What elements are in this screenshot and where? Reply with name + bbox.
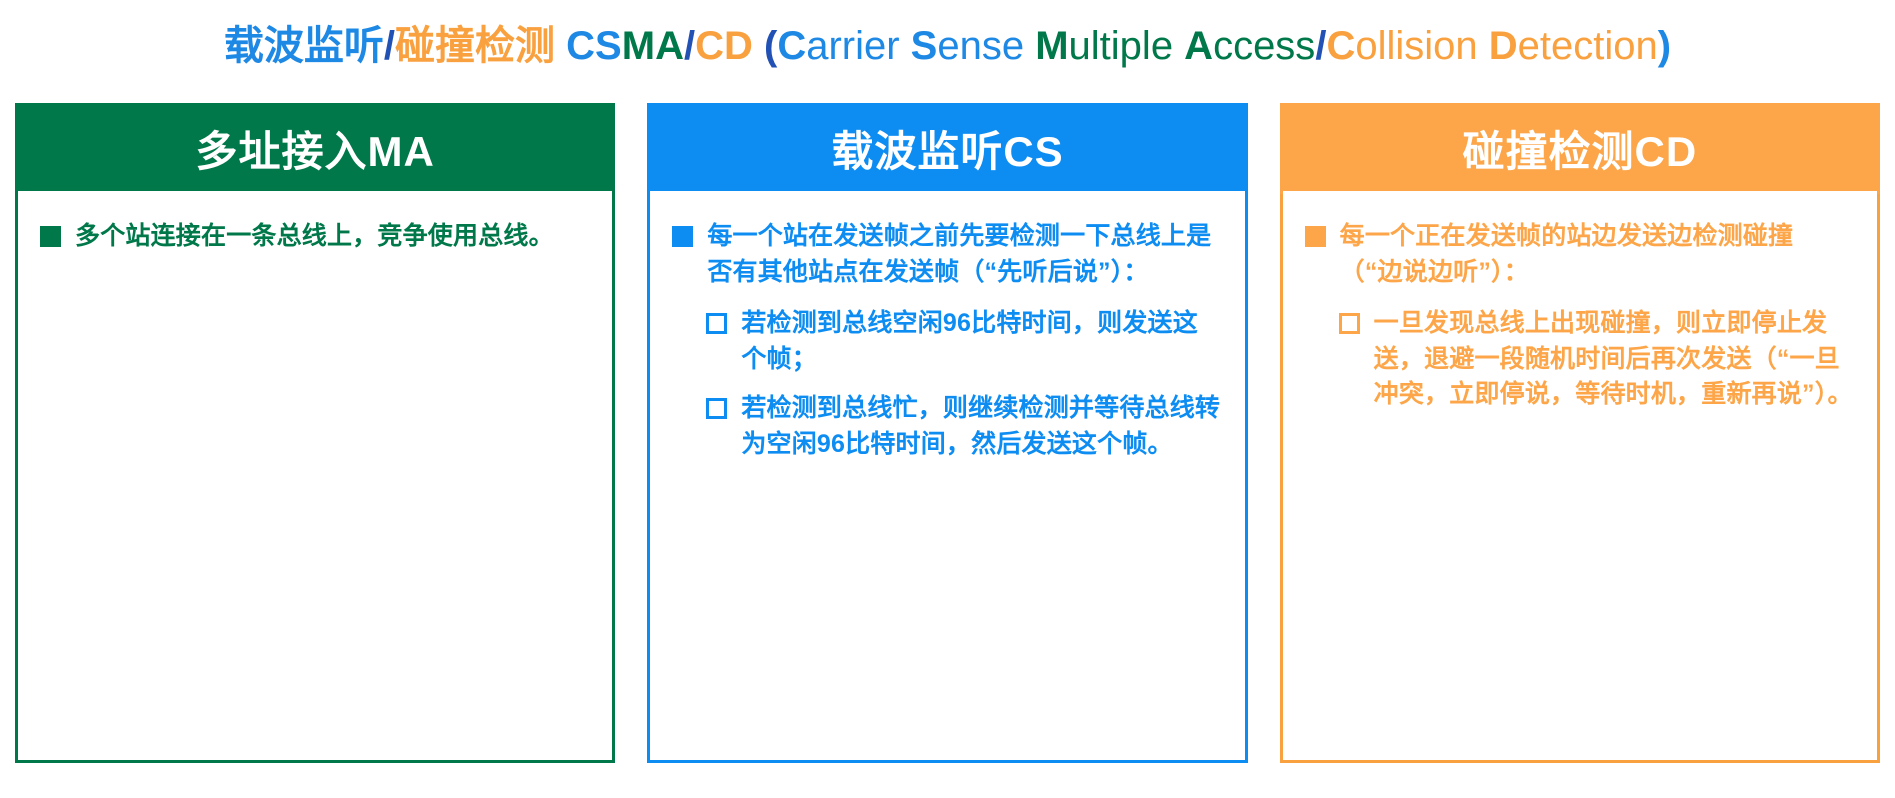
title-segment-12: S [911,24,938,68]
bullet-item: 若检测到总线忙，则继续检测并等待总线转为空闲96比特时间，然后发送这个帧。 [672,391,1220,462]
panel-header-cd: 碰撞检测CD [1280,103,1880,194]
page-title: 载波监听/碰撞检测 CSMA/CD (Carrier Sense Multipl… [224,26,1671,66]
title-segment-10: C [777,24,806,68]
bullet-item: 多个站连接在一条总线上，竞争使用总线。 [40,219,588,255]
title-segment-13: ense [937,24,1035,68]
title-segment-15: ultiple [1069,24,1185,68]
title-segment-3 [555,24,566,68]
bullet-text: 若检测到总线空闲96比特时间，则发送这个帧； [741,306,1220,377]
bullet-item: 每一个站在发送帧之前先要检测一下总线上是否有其他站点在发送帧（“先听后说”）： [672,219,1220,290]
panel-row: 多址接入MA多个站连接在一条总线上，竞争使用总线。载波监听CS每一个站在发送帧之… [15,103,1880,763]
title-segment-11: arrier [806,24,910,68]
panel-ma: 多址接入MA多个站连接在一条总线上，竞争使用总线。 [15,103,615,763]
panel-body-cs: 每一个站在发送帧之前先要检测一下总线上是否有其他站点在发送帧（“先听后说”）：若… [650,191,1244,760]
title-segment-4: CS [566,24,622,68]
title-segment-1: / [384,24,395,68]
title-segment-18: / [1315,24,1326,68]
title-segment-19: C [1326,24,1355,68]
filled-square-bullet-icon [672,226,693,247]
hollow-square-bullet-icon [1339,313,1360,334]
filled-square-bullet-icon [1305,226,1326,247]
title-segment-9: ( [764,24,777,68]
title-segment-7: CD [695,24,753,68]
title-segment-16: A [1184,24,1213,68]
title-bar: 载波监听/碰撞检测 CSMA/CD (Carrier Sense Multipl… [0,0,1895,88]
panel-cs: 载波监听CS每一个站在发送帧之前先要检测一下总线上是否有其他站点在发送帧（“先听… [647,103,1247,763]
panel-body-ma: 多个站连接在一条总线上，竞争使用总线。 [18,191,612,760]
title-segment-5: MA [622,24,684,68]
bullet-item: 若检测到总线空闲96比特时间，则发送这个帧； [672,306,1220,377]
bullet-text: 每一个站在发送帧之前先要检测一下总线上是否有其他站点在发送帧（“先听后说”）： [707,219,1220,290]
title-segment-22: etection [1518,24,1658,68]
bullet-text: 若检测到总线忙，则继续检测并等待总线转为空闲96比特时间，然后发送这个帧。 [741,391,1220,462]
title-segment-21: D [1489,24,1518,68]
title-segment-23: ) [1658,24,1671,68]
filled-square-bullet-icon [40,226,61,247]
bullet-item: 一旦发现总线上出现碰撞，则立即停止发送，退避一段随机时间后再次发送（“一旦冲突，… [1305,306,1853,413]
title-segment-2: 碰撞检测 [395,24,555,68]
bullet-text: 多个站连接在一条总线上，竞争使用总线。 [75,219,554,255]
title-segment-14: M [1035,24,1068,68]
hollow-square-bullet-icon [706,398,727,419]
title-segment-20: ollision [1355,24,1488,68]
title-segment-8 [753,24,764,68]
panel-header-ma: 多址接入MA [15,103,615,194]
title-segment-6: / [684,24,695,68]
title-segment-0: 载波监听 [224,24,384,68]
panel-header-cs: 载波监听CS [647,103,1247,194]
panel-body-cd: 每一个正在发送帧的站边发送边检测碰撞（“边说边听”）：一旦发现总线上出现碰撞，则… [1283,191,1877,760]
bullet-text: 一旦发现总线上出现碰撞，则立即停止发送，退避一段随机时间后再次发送（“一旦冲突，… [1374,306,1853,413]
hollow-square-bullet-icon [706,313,727,334]
title-segment-17: ccess [1213,24,1315,68]
bullet-item: 每一个正在发送帧的站边发送边检测碰撞（“边说边听”）： [1305,219,1853,290]
bullet-text: 每一个正在发送帧的站边发送边检测碰撞（“边说边听”）： [1340,219,1853,290]
panel-cd: 碰撞检测CD每一个正在发送帧的站边发送边检测碰撞（“边说边听”）：一旦发现总线上… [1280,103,1880,763]
